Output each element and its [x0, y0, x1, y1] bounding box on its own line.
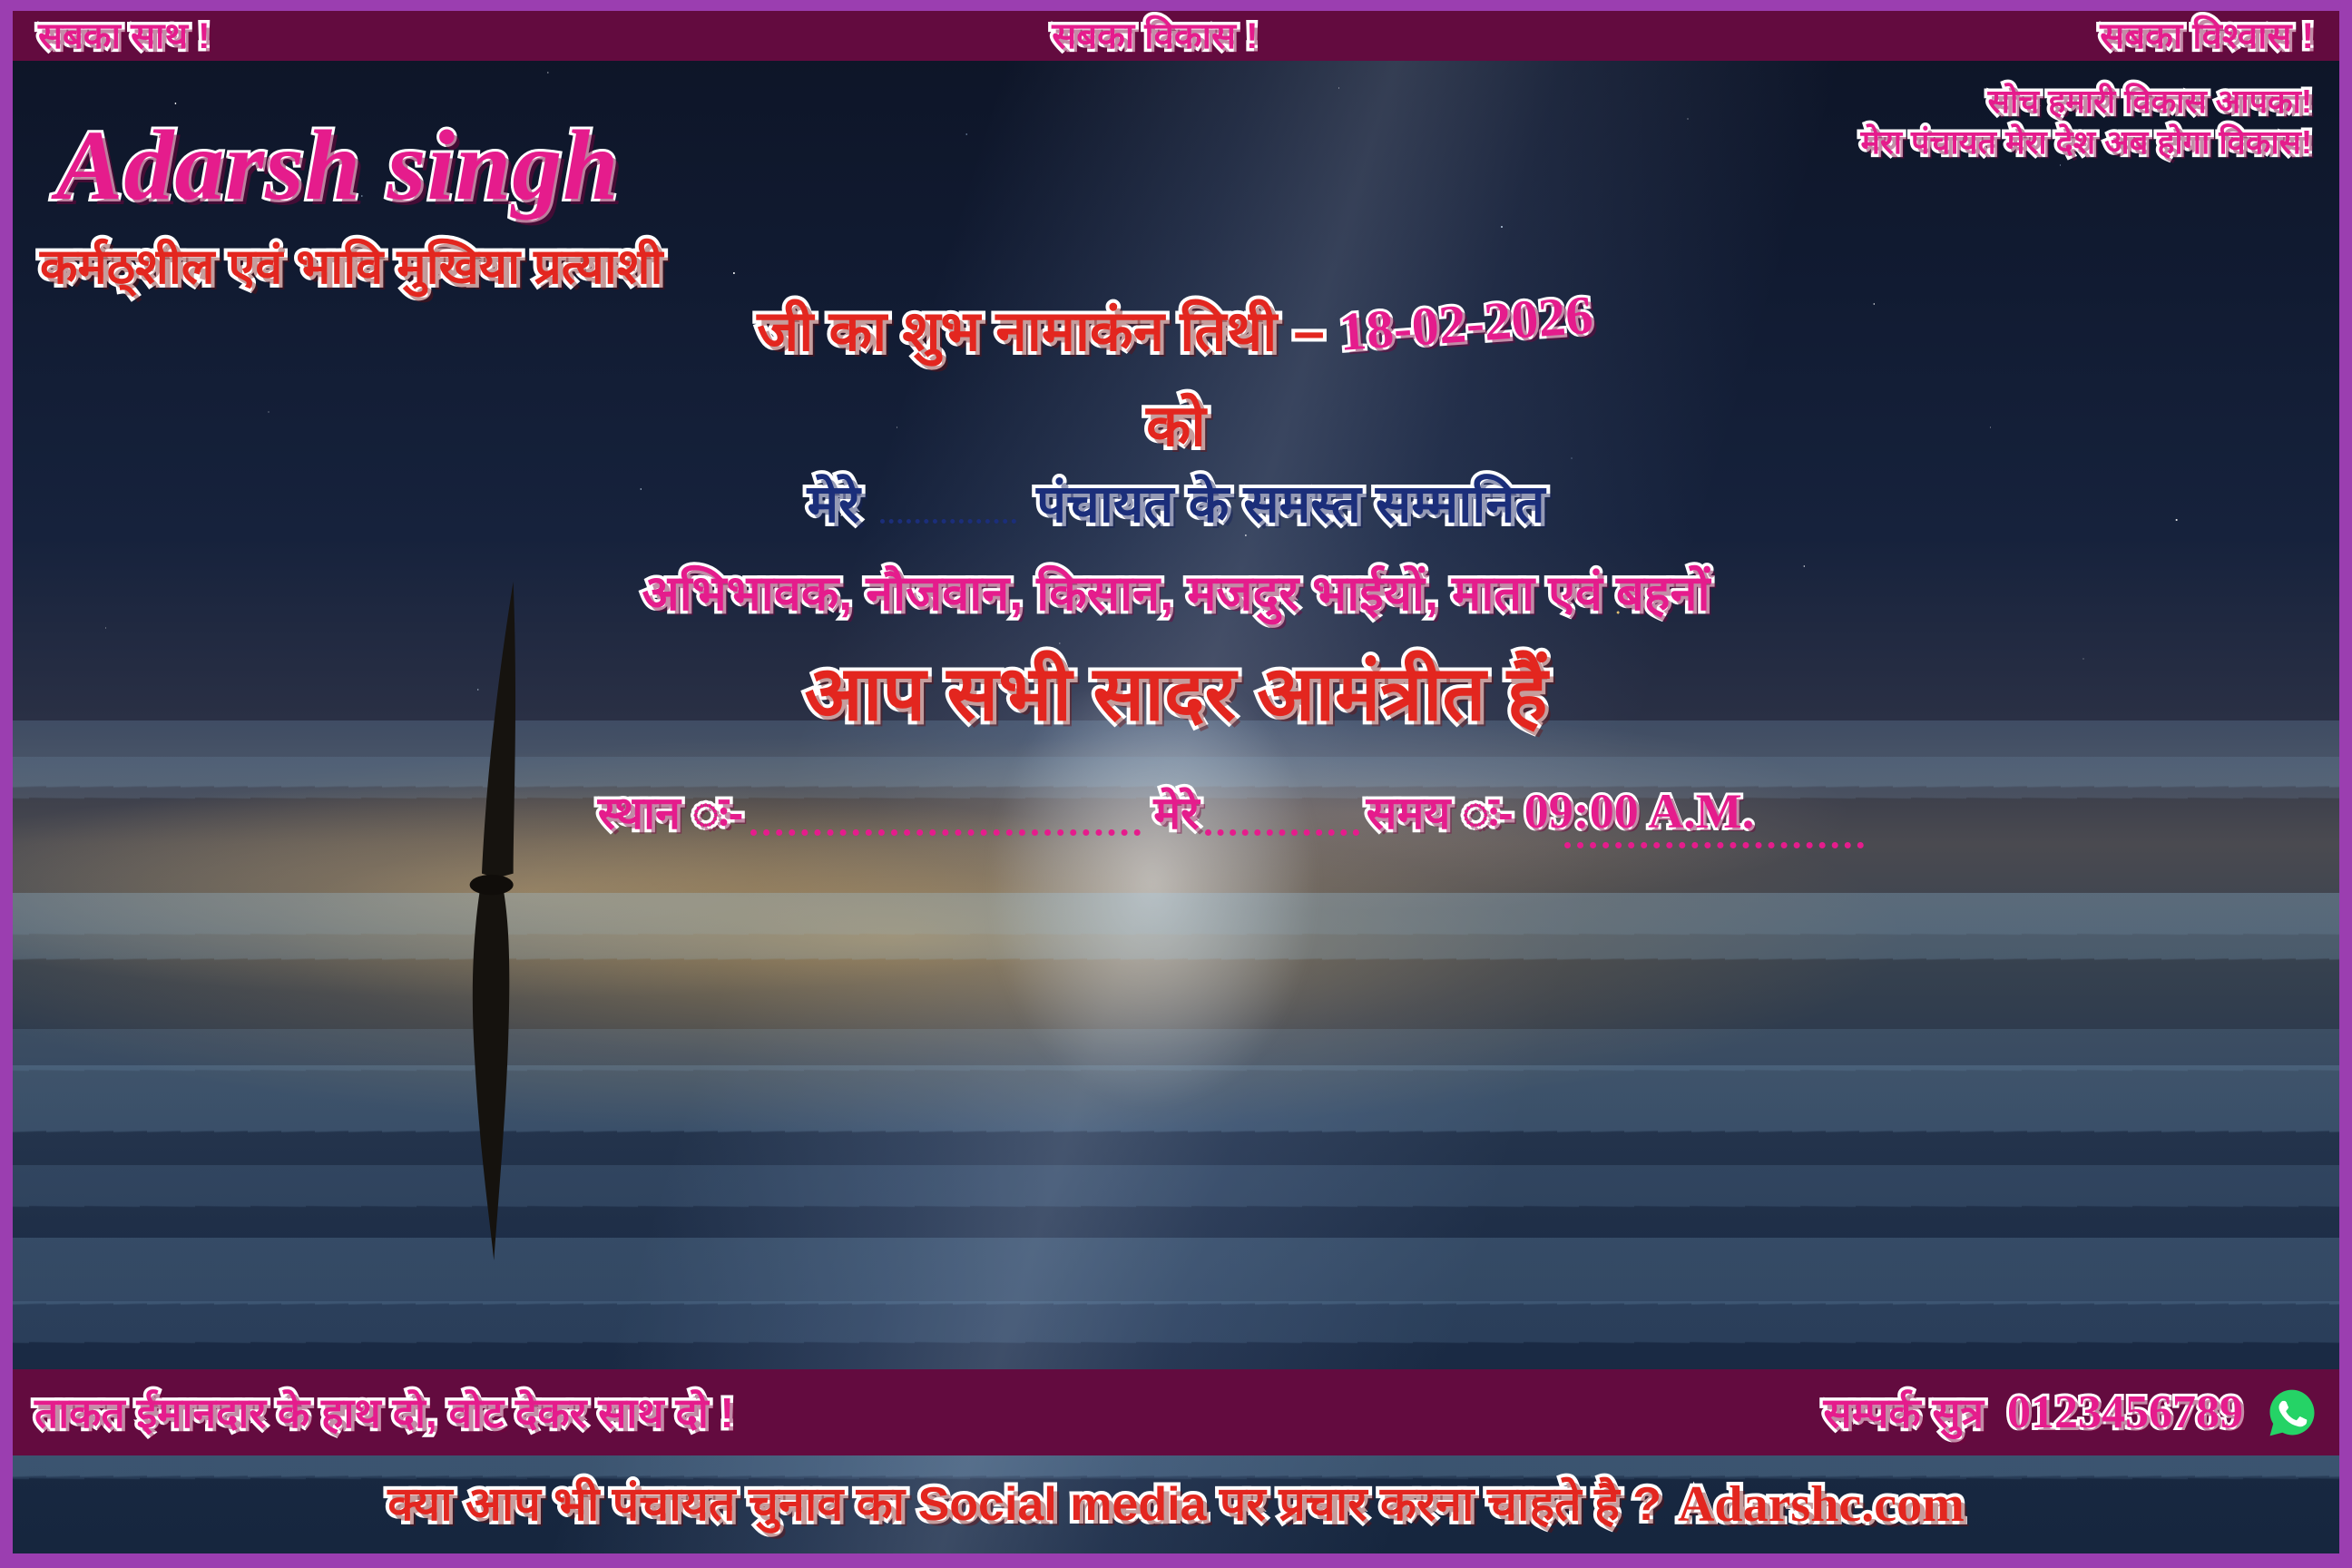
- audience-line: अभिभावक, नौजवान, किसान, मजदुर भाईयों, मा…: [13, 569, 2339, 618]
- promo-text: क्या आप भी पंचायत चुनाव का Social media …: [387, 1481, 1661, 1528]
- ko-line: को: [13, 397, 2339, 455]
- ko-text: को: [1146, 393, 1206, 458]
- time-dotted-field[interactable]: [1564, 818, 1864, 848]
- footer-band: ताकत ईमानदार के हाथ दो, वोट देकर साथ दो …: [13, 1369, 2339, 1455]
- candidate-name: Adarsh singh: [56, 115, 619, 215]
- venue-label: स्थान ः-: [598, 790, 744, 836]
- whatsapp-icon[interactable]: [2267, 1387, 2318, 1438]
- nomination-date-value: 18-02-2026: [1338, 288, 1594, 359]
- venue-dotted-field-2[interactable]: [1205, 805, 1359, 836]
- date-dash: –: [1293, 304, 1324, 360]
- poster-body: Adarsh singh कर्मठ्शील एवं भावि मुखिया प…: [13, 61, 2339, 1369]
- tagline-line2: मेरा पंचायत मेरा देश अब होगा विकास!: [1860, 122, 2312, 162]
- panchayat-text: पंचायत के समस्त सम्मानित: [1036, 475, 1544, 534]
- slogan-sabka-vishwas: सबका विश्वास !: [2100, 18, 2314, 54]
- invitation-line: आप सभी सादर आमंत्रीत हैं: [13, 655, 2339, 731]
- top-slogan-band: सबका साथ ! सबका विकास ! सबका विश्वास !: [13, 11, 2339, 61]
- panchayat-line: मेरे पंचायत के समस्त सम्मानित: [13, 478, 2339, 531]
- election-poster: सबका साथ ! सबका विकास ! सबका विश्वास ! A…: [0, 0, 2352, 1568]
- time-label: समय ः-: [1367, 790, 1514, 836]
- promo-band: क्या आप भी पंचायत चुनाव का Social media …: [13, 1455, 2339, 1553]
- tagline-block: सोच हमारी विकास आपका! मेरा पंचायत मेरा द…: [1860, 81, 2312, 162]
- mere-word: मेरे: [807, 475, 859, 534]
- slogan-sabka-vikas: सबका विकास !: [1052, 18, 1258, 54]
- footer-slogan: ताकत ईमानदार के हाथ दो, वोट देकर साथ दो …: [34, 1392, 734, 1434]
- poster-inner: सबका साथ ! सबका विकास ! सबका विश्वास ! A…: [13, 11, 2339, 1553]
- slogan-sabka-saath: सबका साथ !: [38, 18, 210, 54]
- candidate-subtitle: कर्मठ्शील एवं भावि मुखिया प्रत्याशी: [40, 242, 662, 291]
- tagline-line1: सोच हमारी विकास आपका!: [1860, 81, 2312, 122]
- venue-dotted-field[interactable]: [750, 805, 1141, 836]
- panchayat-blank-field[interactable]: [880, 519, 1016, 524]
- audience-text: अभिभावक, नौजवान, किसान, मजदुर भाईयों, मा…: [642, 566, 1710, 621]
- invitation-text: आप सभी सादर आमंत्रीत हैं: [805, 651, 1548, 736]
- venue-value: मेरे: [1153, 790, 1199, 836]
- date-prefix-text: जी का शुभ नामाकंन तिथी: [757, 304, 1277, 360]
- nomination-date-line: जी का शुभ नामाकंन तिथी – 18-02-2026: [13, 304, 2339, 360]
- contact-block: सम्पर्क सुत्र 0123456789: [1824, 1387, 2318, 1438]
- contact-phone[interactable]: 0123456789: [2007, 1389, 2243, 1436]
- contact-label: सम्पर्क सुत्र: [1824, 1392, 1984, 1434]
- promo-website[interactable]: Adarshc.com: [1678, 1479, 1965, 1530]
- venue-time-row: स्थान ः- मेरे समय ः- 09:00 A.M.: [13, 787, 2339, 836]
